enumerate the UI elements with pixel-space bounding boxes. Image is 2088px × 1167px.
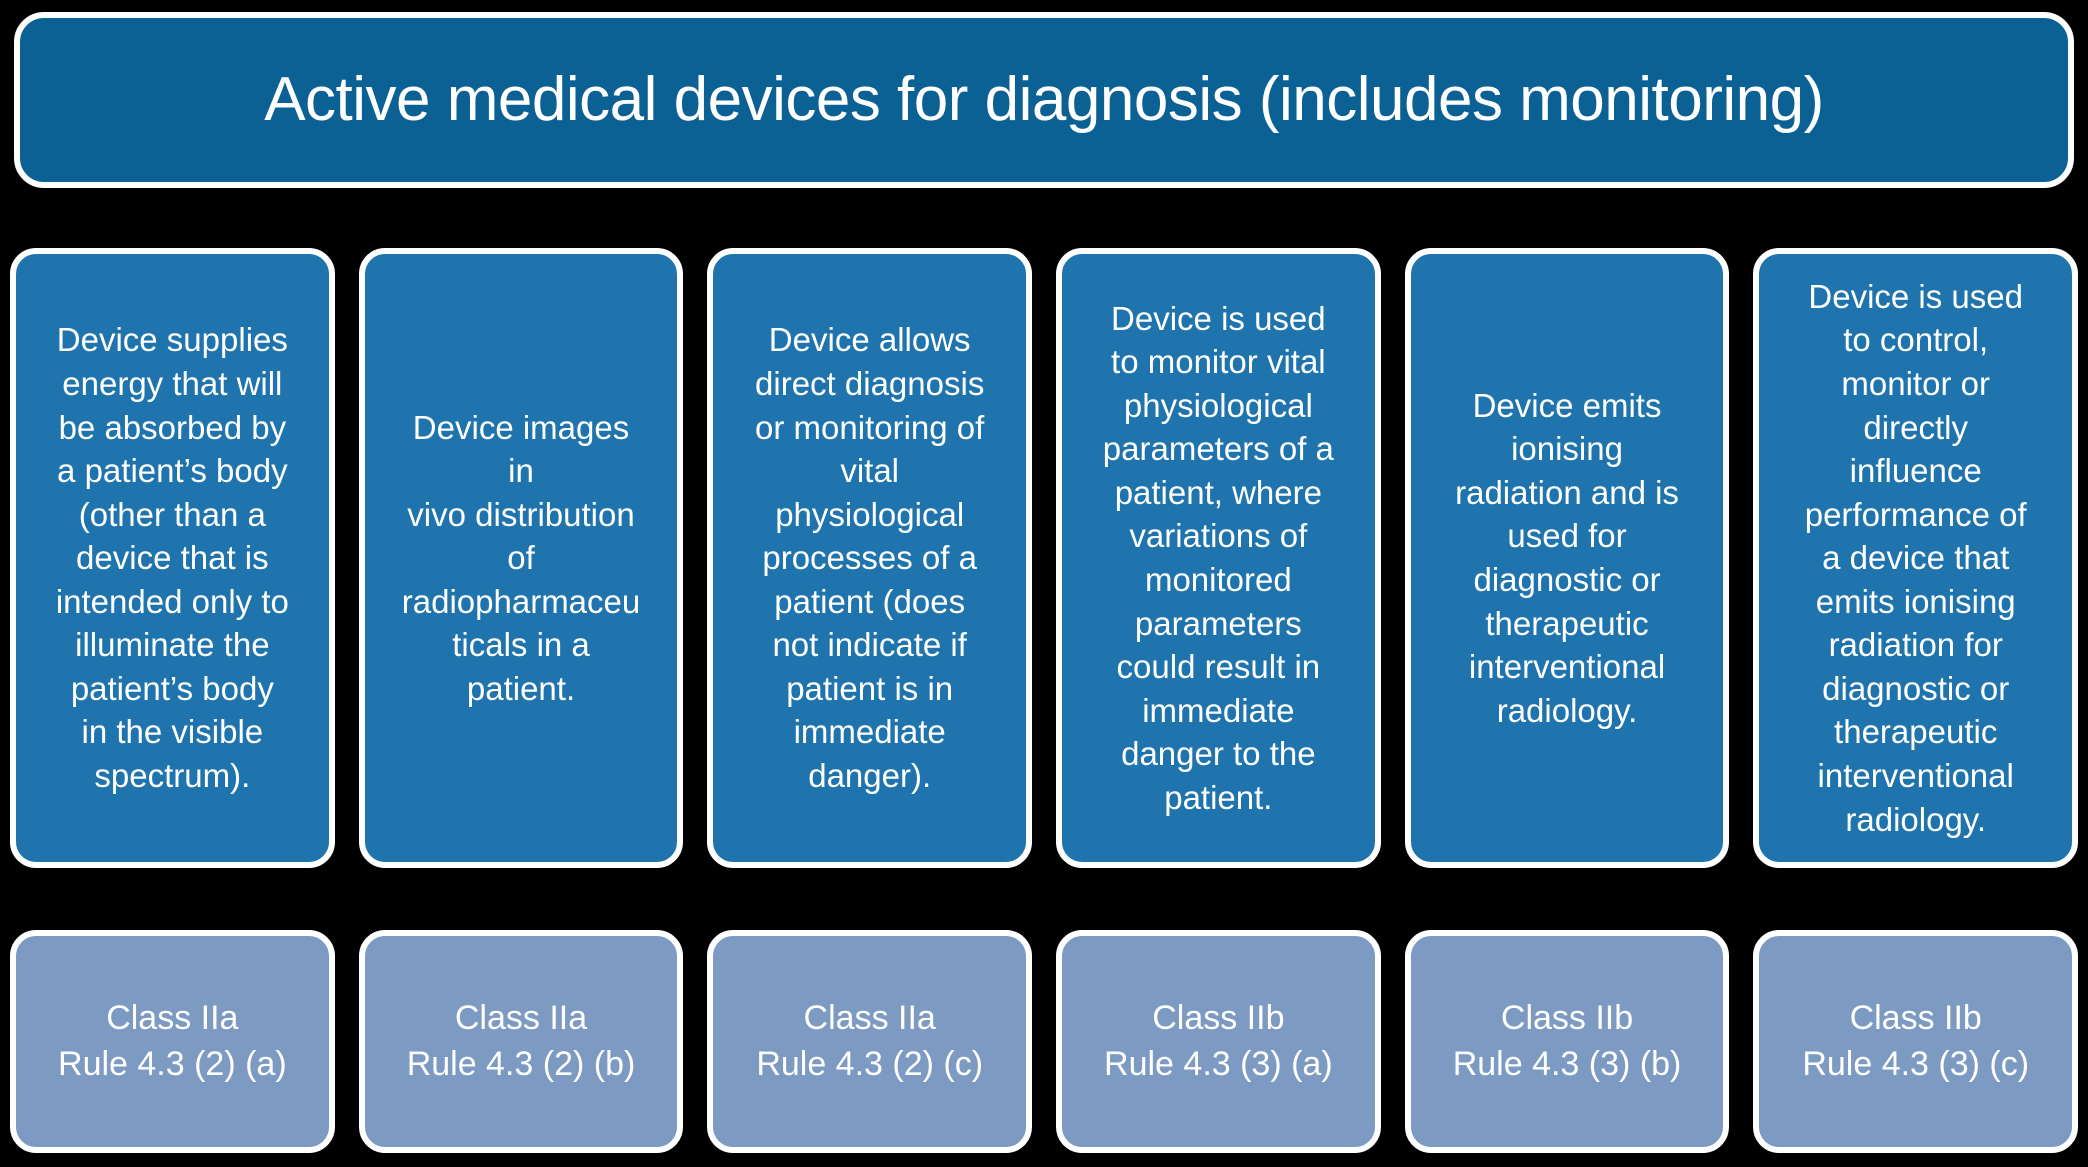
description-card-3[interactable]: Device allows direct diagnosis or monito…: [707, 248, 1032, 868]
classification-card-row: Class IIa Rule 4.3 (2) (a) Class IIa Rul…: [10, 930, 2078, 1153]
row-spacer: [10, 868, 2078, 930]
description-card-row: Device supplies energy that will be abso…: [10, 248, 2078, 868]
classification-card-4[interactable]: Class IIb Rule 4.3 (3) (a): [1056, 930, 1381, 1153]
title-spacer: [10, 188, 2078, 248]
classification-card-text: Class IIa Rule 4.3 (2) (a): [58, 996, 287, 1087]
description-card-5[interactable]: Device emits ionising radiation and is u…: [1405, 248, 1730, 868]
classification-card-text: Class IIa Rule 4.3 (2) (c): [756, 996, 983, 1087]
description-card-2[interactable]: Device images in vivo distribution of ra…: [359, 248, 684, 868]
classification-card-1[interactable]: Class IIa Rule 4.3 (2) (a): [10, 930, 335, 1153]
diagram-canvas: Active medical devices for diagnosis (in…: [0, 0, 2088, 1167]
description-card-text: Device is used to control, monitor or di…: [1805, 275, 2027, 841]
page-title: Active medical devices for diagnosis (in…: [264, 66, 1824, 134]
classification-card-3[interactable]: Class IIa Rule 4.3 (2) (c): [707, 930, 1032, 1153]
classification-card-text: Class IIb Rule 4.3 (3) (b): [1453, 996, 1682, 1087]
description-card-text: Device emits ionising radiation and is u…: [1455, 384, 1679, 732]
description-card-6[interactable]: Device is used to control, monitor or di…: [1753, 248, 2078, 868]
classification-card-text: Class IIb Rule 4.3 (3) (c): [1802, 996, 2029, 1087]
description-card-text: Device images in vivo distribution of ra…: [402, 406, 640, 711]
classification-card-text: Class IIb Rule 4.3 (3) (a): [1104, 996, 1333, 1087]
classification-card-5[interactable]: Class IIb Rule 4.3 (3) (b): [1405, 930, 1730, 1153]
description-card-4[interactable]: Device is used to monitor vital physiolo…: [1056, 248, 1381, 868]
classification-card-6[interactable]: Class IIb Rule 4.3 (3) (c): [1753, 930, 2078, 1153]
description-card-text: Device is used to monitor vital physiolo…: [1103, 297, 1334, 820]
classification-card-2[interactable]: Class IIa Rule 4.3 (2) (b): [359, 930, 684, 1153]
description-card-1[interactable]: Device supplies energy that will be abso…: [10, 248, 335, 868]
classification-card-text: Class IIa Rule 4.3 (2) (b): [407, 996, 636, 1087]
diagram-title-banner: Active medical devices for diagnosis (in…: [14, 12, 2074, 188]
description-card-text: Device supplies energy that will be abso…: [56, 318, 289, 797]
description-card-text: Device allows direct diagnosis or monito…: [755, 318, 984, 797]
